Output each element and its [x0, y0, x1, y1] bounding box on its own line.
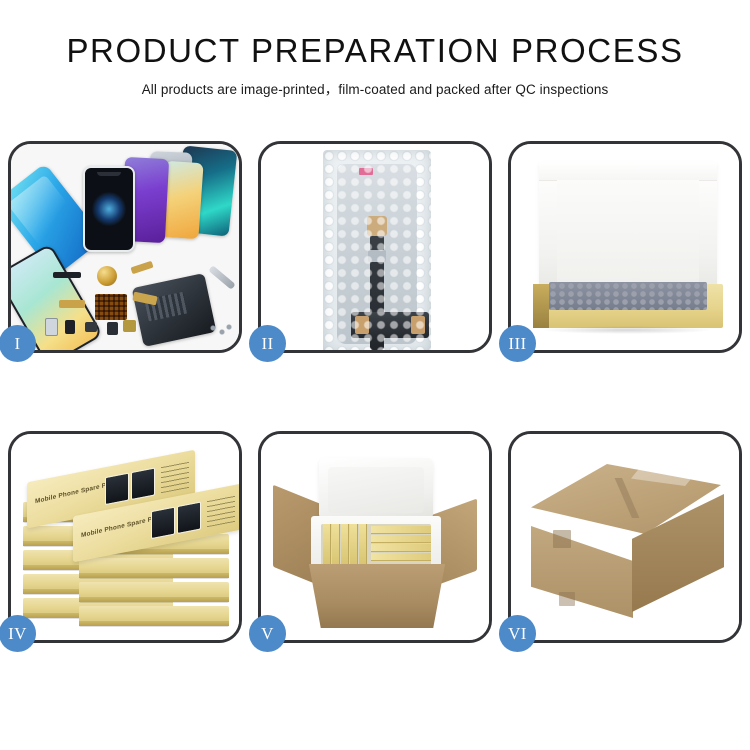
product-box-item [341, 524, 349, 566]
small-part-icon-2 [85, 322, 97, 332]
product-box-item [359, 524, 367, 566]
step-badge-2: II [249, 325, 286, 362]
step-badge-3: III [499, 325, 536, 362]
panel-step-2-image [261, 144, 489, 350]
product-box-item [350, 524, 358, 566]
carton-body-icon [303, 564, 451, 628]
box-artwork-screen-icon [131, 467, 155, 500]
pink-label-tab-icon [359, 168, 373, 175]
process-step-grid: I II [8, 141, 742, 643]
box-shadow-icon [541, 326, 713, 334]
speaker-module-icon [97, 266, 117, 286]
step-badge-1: I [0, 325, 36, 362]
page-subtitle: All products are image-printed，film-coat… [0, 78, 750, 98]
open-box-foam-scene [511, 144, 739, 350]
stacked-box [79, 606, 229, 626]
step-badge-5: V [249, 615, 286, 652]
stacked-box [79, 558, 229, 578]
box-artwork-screen-icon [177, 501, 201, 534]
product-box-item [371, 526, 431, 534]
lcd-assembly-icon [337, 164, 417, 344]
driver-ic-icon [368, 250, 386, 262]
page-title: PRODUCT PREPARATION PROCESS [0, 34, 750, 69]
carton-left-face-icon [531, 526, 633, 618]
product-box-item [323, 524, 331, 566]
panel-step-5-image [261, 434, 489, 640]
grey-foam-padding-icon [549, 282, 707, 310]
bubble-wrap-icon [323, 150, 431, 350]
panel-step-1[interactable]: I [8, 141, 242, 353]
carton-label-patch-icon [553, 530, 571, 548]
white-box-lid-icon [539, 162, 717, 294]
panel-step-4-image: Mobile Phone Spare Parts Mobile Phone Sp… [11, 434, 239, 640]
page-header: PRODUCT PREPARATION PROCESS All products… [0, 0, 750, 98]
box-side-panel-icon [533, 284, 549, 328]
box-artwork-screen-icon [105, 473, 129, 506]
step-badge-4: IV [0, 615, 36, 652]
small-part-icon-3 [107, 322, 118, 335]
panel-step-4[interactable]: Mobile Phone Spare Parts Mobile Phone Sp… [8, 431, 242, 643]
sim-tray-icon [45, 318, 58, 336]
eps-foam-lid-icon [319, 458, 433, 520]
box-stack-icon: Mobile Phone Spare Parts Mobile Phone Sp… [17, 448, 239, 638]
connector-icon [351, 312, 429, 338]
small-part-icon-1 [65, 320, 75, 334]
panel-step-6[interactable]: VI [508, 431, 742, 643]
panel-step-3[interactable]: III [508, 141, 742, 353]
flex-cable-icon-3 [130, 261, 153, 274]
panel-step-3-image [511, 144, 739, 350]
step-badge-6: VI [499, 615, 536, 652]
tweezers-icon [208, 265, 235, 290]
product-box-item [371, 553, 431, 561]
product-box-item [332, 524, 340, 566]
bubble-wrapped-screen-scene [261, 144, 489, 350]
small-part-icon-4 [123, 320, 136, 332]
carton-label-patch-icon [559, 592, 575, 606]
box-spec-lines-icon [207, 494, 235, 527]
phone-screen-black-icon [83, 166, 135, 252]
panel-step-2[interactable]: II [258, 141, 492, 353]
stacked-boxes-scene: Mobile Phone Spare Parts Mobile Phone Sp… [11, 434, 239, 640]
box-artwork-screen-icon [151, 507, 175, 540]
phone-back-housing-icon [132, 273, 217, 347]
foam-cavity-icon [321, 524, 431, 566]
flex-cable-icon-2 [59, 300, 85, 308]
box-spec-lines-icon [161, 460, 189, 493]
product-box-item [371, 544, 431, 552]
panel-step-1-image [11, 144, 239, 350]
sealed-carton-scene [511, 434, 739, 640]
stacked-box [79, 582, 229, 602]
flex-cable-icon-1 [53, 272, 81, 278]
screws-icon [209, 324, 233, 336]
panel-step-5[interactable]: V [258, 431, 492, 643]
carton-with-foam-box-scene [261, 434, 489, 640]
product-box-item [371, 535, 431, 543]
phone-parts-scene [11, 144, 239, 350]
chip-grid-icon [95, 294, 127, 320]
panel-step-6-image [511, 434, 739, 640]
